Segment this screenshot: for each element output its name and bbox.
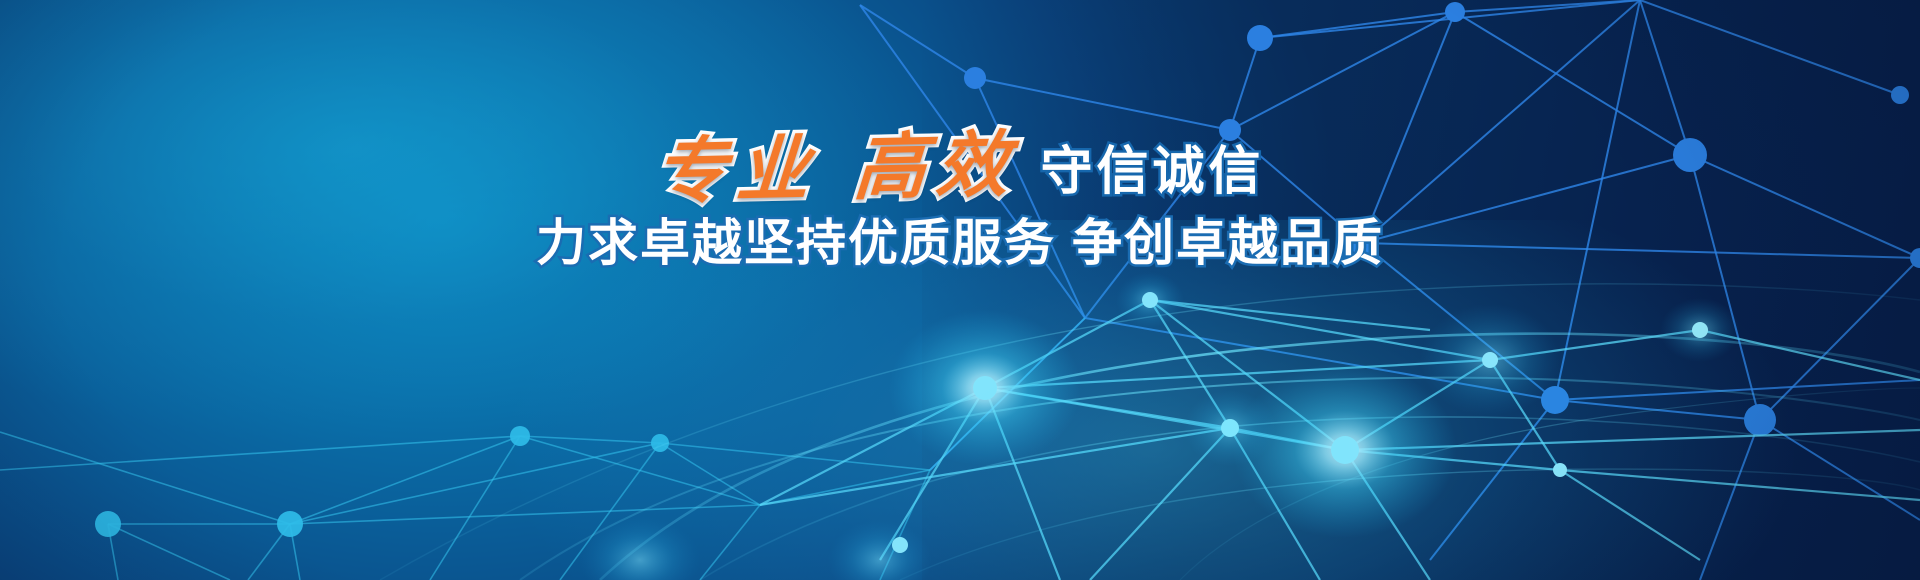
background-vignette: [0, 0, 1920, 580]
hero-banner: 专业 高效守信诚信 力求卓越坚持优质服务 争创卓越品质: [0, 0, 1920, 580]
